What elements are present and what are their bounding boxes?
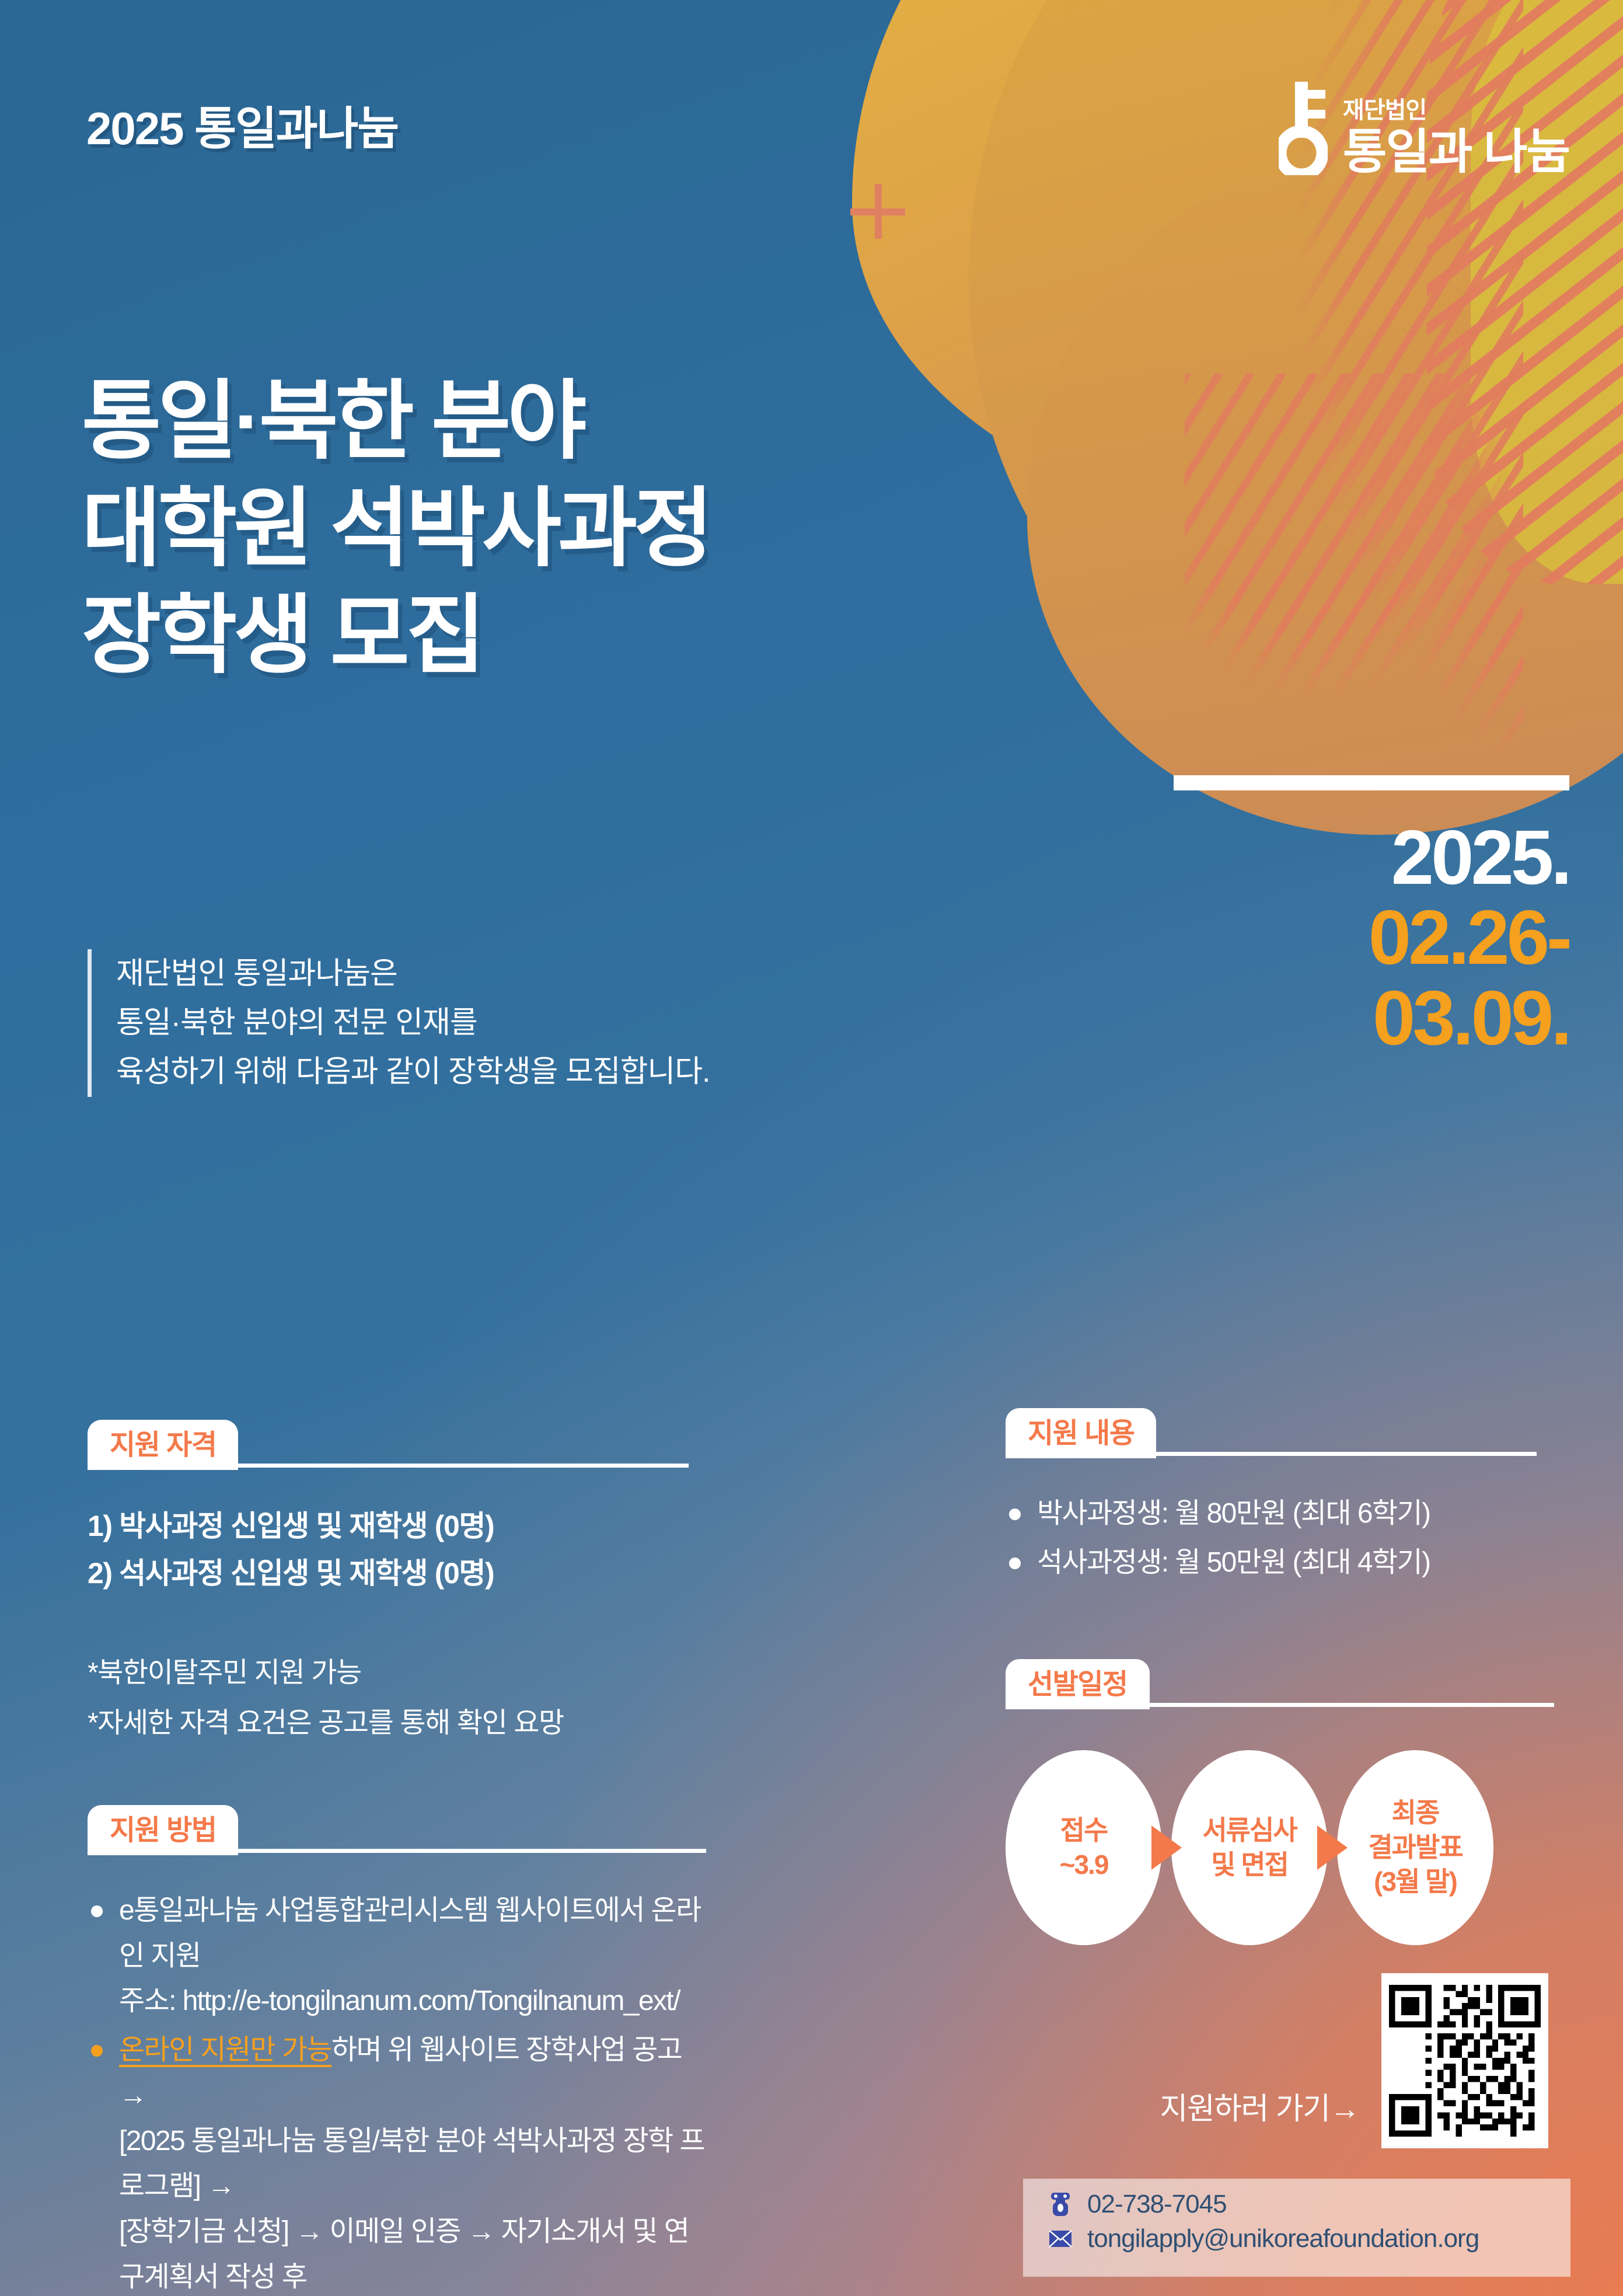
howto-item-1: e통일과나눔 사업통합관리시스템 웹사이트에서 온라인 지원 주소: http:…: [88, 1888, 706, 2024]
contact-phone[interactable]: 02-738-7045: [1087, 2189, 1227, 2220]
schedule-flow: 접수 ~3.9 서류심사 및 면접 최종 결과발표 (3월 말): [1006, 1750, 1554, 1945]
section-title-howto: 지원 방법: [88, 1805, 238, 1855]
date-range: 02.26- 03.09.: [1369, 897, 1569, 1058]
contact-phone-row: 02-738-7045: [1048, 2189, 1570, 2220]
section-rule: [1149, 1703, 1554, 1707]
contact-box: 02-738-7045 tongilapply@unikoreafoundati…: [1023, 2179, 1570, 2277]
section-title-qualification: 지원 자격: [88, 1420, 238, 1470]
section-support: 지원 내용 박사과정생: 월 80만원 (최대 6학기) 석사과정생: 월 50…: [1006, 1408, 1537, 1588]
foundation-logo: 재단법인 통일과 나눔: [1279, 82, 1569, 175]
section-header: 지원 자격: [88, 1420, 689, 1470]
arrow-right-icon: [1317, 1825, 1348, 1870]
section-header: 지원 내용: [1006, 1408, 1537, 1458]
schedule-step-1: 접수 ~3.9: [1006, 1750, 1162, 1945]
qualification-item-1: 1) 박사과정 신입생 및 재학생 (0명): [88, 1503, 689, 1550]
diagonal-stripes-band-lower: [1185, 374, 1623, 841]
contact-email-row: tongilapply@unikoreafoundation.org: [1048, 2224, 1570, 2255]
schedule-step-2: 서류심사 및 면접: [1171, 1750, 1328, 1945]
page-title: 통일·북한 분야 대학원 석박사과정 장학생 모집: [82, 368, 710, 689]
section-rule: [1155, 1452, 1537, 1456]
logo-name: 통일과 나눔: [1343, 130, 1569, 175]
section-header: 지원 방법: [88, 1805, 706, 1855]
intro-paragraph: 재단법인 통일과나눔은 통일·북한 분야의 전문 인재를 육성하기 위해 다음과…: [88, 949, 710, 1097]
blob-shape-3: [1027, 146, 1623, 835]
date-rule: [1174, 775, 1569, 790]
application-period: 2025. 02.26- 03.09.: [1369, 817, 1569, 1058]
poster: 2025 통일과나눔 재단법인 통일과 나눔 통일·북한 분야 대학원 석박사과…: [0, 0, 1623, 2296]
apply-cta-label[interactable]: 지원하러 가기→: [1160, 2084, 1360, 2128]
kicker-title: 2025 통일과나눔: [86, 92, 398, 158]
support-item: 석사과정생: 월 50만원 (최대 4학기): [1006, 1540, 1537, 1586]
howto-item-1-main: e통일과나눔 사업통합관리시스템 웹사이트에서 온라인 지원: [119, 1895, 701, 1971]
section-howto: 지원 방법 e통일과나눔 사업통합관리시스템 웹사이트에서 온라인 지원 주소:…: [88, 1805, 706, 2296]
howto-step-line-2: [2025 통일과나눔 통일/북한 분야 석박사과정 장학 프로그램] →: [119, 2119, 706, 2210]
qualification-item-2: 2) 석사과정 신입생 및 재학생 (0명): [88, 1550, 689, 1597]
arrow-right-icon: [1151, 1825, 1182, 1870]
section-header: 선발일정: [1006, 1659, 1554, 1709]
section-qualification: 지원 자격 1) 박사과정 신입생 및 재학생 (0명) 2) 석사과정 신입생…: [88, 1420, 689, 1745]
section-rule: [237, 1464, 689, 1468]
support-item: 박사과정생: 월 80만원 (최대 6학기): [1006, 1491, 1537, 1537]
key-icon: [1279, 82, 1328, 175]
logo-subtitle: 재단법인: [1343, 91, 1569, 125]
section-schedule: 선발일정 접수 ~3.9 서류심사 및 면접 최종 결과발표 (3월 말): [1006, 1659, 1554, 1945]
howto-highlight: 온라인 지원만 가능: [119, 2034, 331, 2065]
section-title-schedule: 선발일정: [1006, 1659, 1150, 1709]
date-year: 2025.: [1369, 817, 1569, 897]
blob-shape-1: [852, 0, 1623, 531]
qualification-note-2: *자세한 자격 요건은 공고를 통해 확인 요망: [88, 1701, 689, 1745]
qualification-note-1: *북한이탈주민 지원 가능: [88, 1651, 689, 1695]
envelope-icon: [1048, 2226, 1073, 2252]
section-rule: [237, 1849, 706, 1853]
howto-website-url[interactable]: 주소: http://e-tongilnanum.com/Tongilnanum…: [119, 1978, 706, 2024]
qr-code[interactable]: [1381, 1973, 1548, 2148]
section-title-support: 지원 내용: [1006, 1408, 1156, 1458]
telephone-icon: [1048, 2192, 1073, 2217]
section-body: 박사과정생: 월 80만원 (최대 6학기) 석사과정생: 월 50만원 (최대…: [1006, 1491, 1537, 1586]
contact-email[interactable]: tongilapply@unikoreafoundation.org: [1087, 2224, 1479, 2255]
schedule-step-3: 최종 결과발표 (3월 말): [1337, 1750, 1493, 1945]
section-body: e통일과나눔 사업통합관리시스템 웹사이트에서 온라인 지원 주소: http:…: [88, 1888, 706, 2296]
howto-step-line-3: [장학기금 신청] → 이메일 인증 → 자기소개서 및 연구계획서 작성 후: [119, 2209, 706, 2296]
plus-icon: [850, 184, 905, 239]
howto-item-2: 온라인 지원만 가능하며 위 웹사이트 장학사업 공고 → [2025 통일과나…: [88, 2027, 706, 2296]
section-body: 1) 박사과정 신입생 및 재학생 (0명) 2) 석사과정 신입생 및 재학생…: [88, 1503, 689, 1745]
